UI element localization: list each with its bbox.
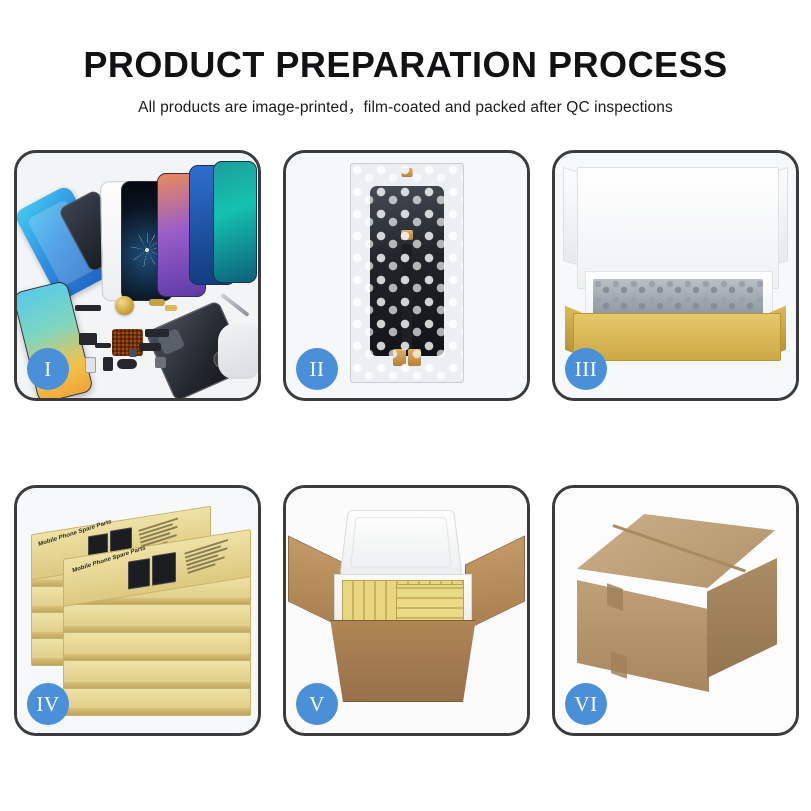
carton-flap-right <box>465 535 525 630</box>
carton-tape-patch <box>611 651 627 679</box>
process-step-2: II <box>283 150 530 401</box>
step-badge-6: VI <box>565 683 607 725</box>
bubble-wrapped-contents <box>593 279 763 315</box>
box-label-spec-lines <box>184 537 237 576</box>
step-badge-4: IV <box>27 683 69 725</box>
speaker-component-icon <box>115 296 134 315</box>
box-base <box>573 313 781 361</box>
stacked-box <box>63 604 251 634</box>
process-step-6: VI <box>552 485 799 736</box>
bubble-wrap-bag <box>350 163 464 383</box>
component-part <box>75 305 101 311</box>
process-step-grid: I II <box>14 150 797 736</box>
component-part <box>149 299 165 306</box>
box-stack: Mobile Phone Spare Parts Mobile Phone Sp… <box>25 506 255 716</box>
process-step-4: Mobile Phone Spare Parts Mobile Phone Sp… <box>14 485 261 736</box>
process-step-5: V <box>283 485 530 736</box>
component-part <box>165 305 177 311</box>
page-subtitle: All products are image-printed，film-coat… <box>0 95 811 117</box>
header: PRODUCT PREPARATION PROCESS All products… <box>0 0 811 117</box>
page-title: PRODUCT PREPARATION PROCESS <box>0 46 811 84</box>
component-part <box>145 329 169 337</box>
step-badge-5: V <box>296 683 338 725</box>
stacked-box <box>63 632 251 662</box>
step-badge-2: II <box>296 348 338 390</box>
step-badge-1: I <box>27 348 69 390</box>
copper-grid-component <box>112 329 143 356</box>
stacked-box <box>63 660 251 690</box>
component-part <box>85 357 96 373</box>
component-part <box>103 357 113 371</box>
component-part <box>95 343 111 348</box>
box-label-screen-image <box>128 558 150 589</box>
component-part <box>139 343 161 351</box>
process-step-3: III <box>552 150 799 401</box>
phone-teal-screen <box>213 161 257 283</box>
step-badge-3: III <box>565 348 607 390</box>
component-part <box>129 349 137 357</box>
bubble-texture <box>351 164 463 382</box>
tweezers-icon <box>220 293 249 317</box>
carton-front-face <box>577 580 709 692</box>
foam-box-lid <box>339 510 462 577</box>
component-part <box>155 357 166 368</box>
process-step-1: I <box>14 150 261 401</box>
stacked-box <box>63 688 251 716</box>
product-preparation-infographic: PRODUCT PREPARATION PROCESS All products… <box>0 0 811 811</box>
component-part <box>117 359 137 369</box>
box-label-screen-image <box>152 552 176 586</box>
hand-shape <box>218 323 258 379</box>
shipping-carton-open <box>324 620 482 702</box>
